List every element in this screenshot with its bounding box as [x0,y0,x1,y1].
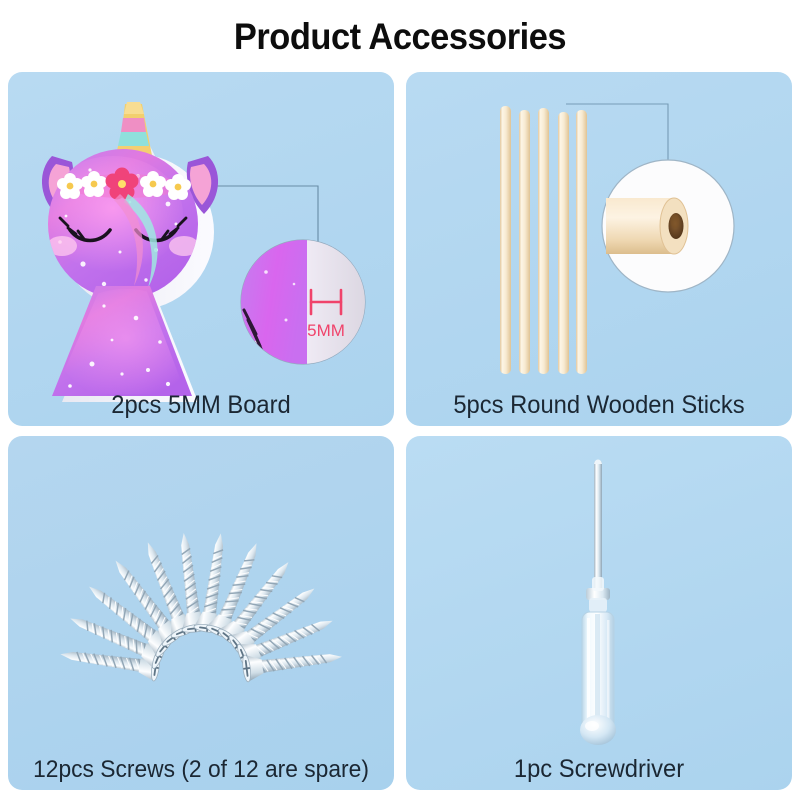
screws-illustration [8,436,394,790]
screwdriver [580,460,616,746]
panel-caption-screwdriver: 1pc Screwdriver [416,755,783,784]
wooden-stick [538,108,549,374]
stick-end-closeup [606,198,688,254]
magnifier-lens-stick [602,160,734,292]
wooden-stick [576,110,587,374]
screwdriver-illustration [406,436,792,790]
magnifier-lens-board: 5MM [241,240,365,364]
page-title: Product Accessories [28,16,772,58]
panel-screwdriver[interactable]: 1pc Screwdriver [406,436,792,790]
wooden-stick [500,106,511,374]
wooden-stick-group [500,106,587,374]
panel-caption-board: 2pcs 5MM Board [18,391,385,420]
dimension-label: 5MM [307,321,345,340]
screwdriver-collar [586,577,610,612]
panel-caption-screws: 12pcs Screws (2 of 12 are spare) [18,756,385,784]
panel-screws[interactable]: 12pcs Screws (2 of 12 are spare) [8,436,394,790]
panel-caption-sticks: 5pcs Round Wooden Sticks [416,391,783,420]
panel-sticks[interactable]: 5pcs Round Wooden Sticks [406,72,792,426]
screwdriver-handle [580,612,616,745]
handle-cap [580,715,616,745]
accessories-grid: 5MM 2pcs 5MM Board [8,72,792,790]
wooden-stick [558,112,569,374]
wooden-stick [519,110,530,374]
sticks-illustration [406,72,792,426]
product-accessories-infographic: Product Accessories [0,0,800,800]
board-illustration: 5MM [8,72,394,426]
panel-board[interactable]: 5MM 2pcs 5MM Board [8,72,394,426]
screw-fan [59,531,344,682]
